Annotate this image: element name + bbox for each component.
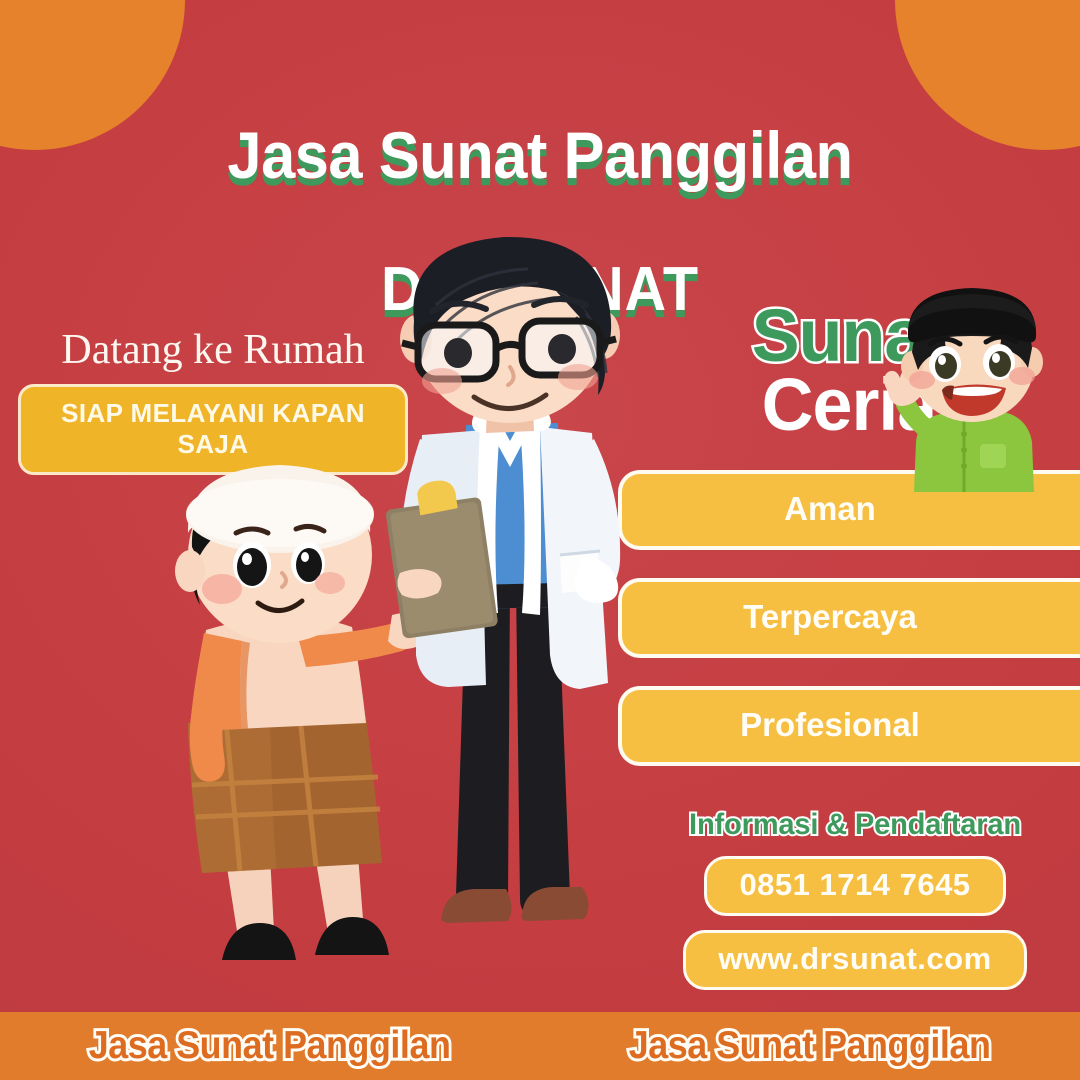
contact-heading: Informasi & Pendaftaran xyxy=(637,808,1074,842)
bottom-banner-text-left: Jasa Sunat Panggilan xyxy=(89,1024,451,1068)
left-promo-block: Datang ke Rumah SIAP MELAYANI KAPAN SAJA xyxy=(18,328,408,475)
contact-phone-badge[interactable]: 0851 1714 7645 xyxy=(704,856,1005,916)
headline-line-1: Jasa Sunat Panggilan xyxy=(38,121,1042,190)
promo-tagline: Datang ke Rumah xyxy=(18,328,408,372)
waving-kid-illustration xyxy=(872,292,1072,492)
contact-website-badge[interactable]: www.drsunat.com xyxy=(683,930,1026,990)
contact-block: Informasi & Pendaftaran 0851 1714 7645 w… xyxy=(630,808,1080,1004)
feature-badge-list: Aman Terpercaya Profesional xyxy=(618,470,1080,766)
poster-root: Jasa Sunat Panggilan DR. SUNAT Datang ke… xyxy=(0,0,1080,1080)
doctor-illustration xyxy=(370,255,650,975)
bottom-banner-text-right: Jasa Sunat Panggilan xyxy=(629,1024,991,1068)
feature-badge-terpercaya[interactable]: Terpercaya xyxy=(618,578,1080,658)
feature-badge-profesional[interactable]: Profesional xyxy=(618,686,1080,766)
bottom-banner: Jasa Sunat Panggilan Jasa Sunat Panggila… xyxy=(0,1012,1080,1080)
